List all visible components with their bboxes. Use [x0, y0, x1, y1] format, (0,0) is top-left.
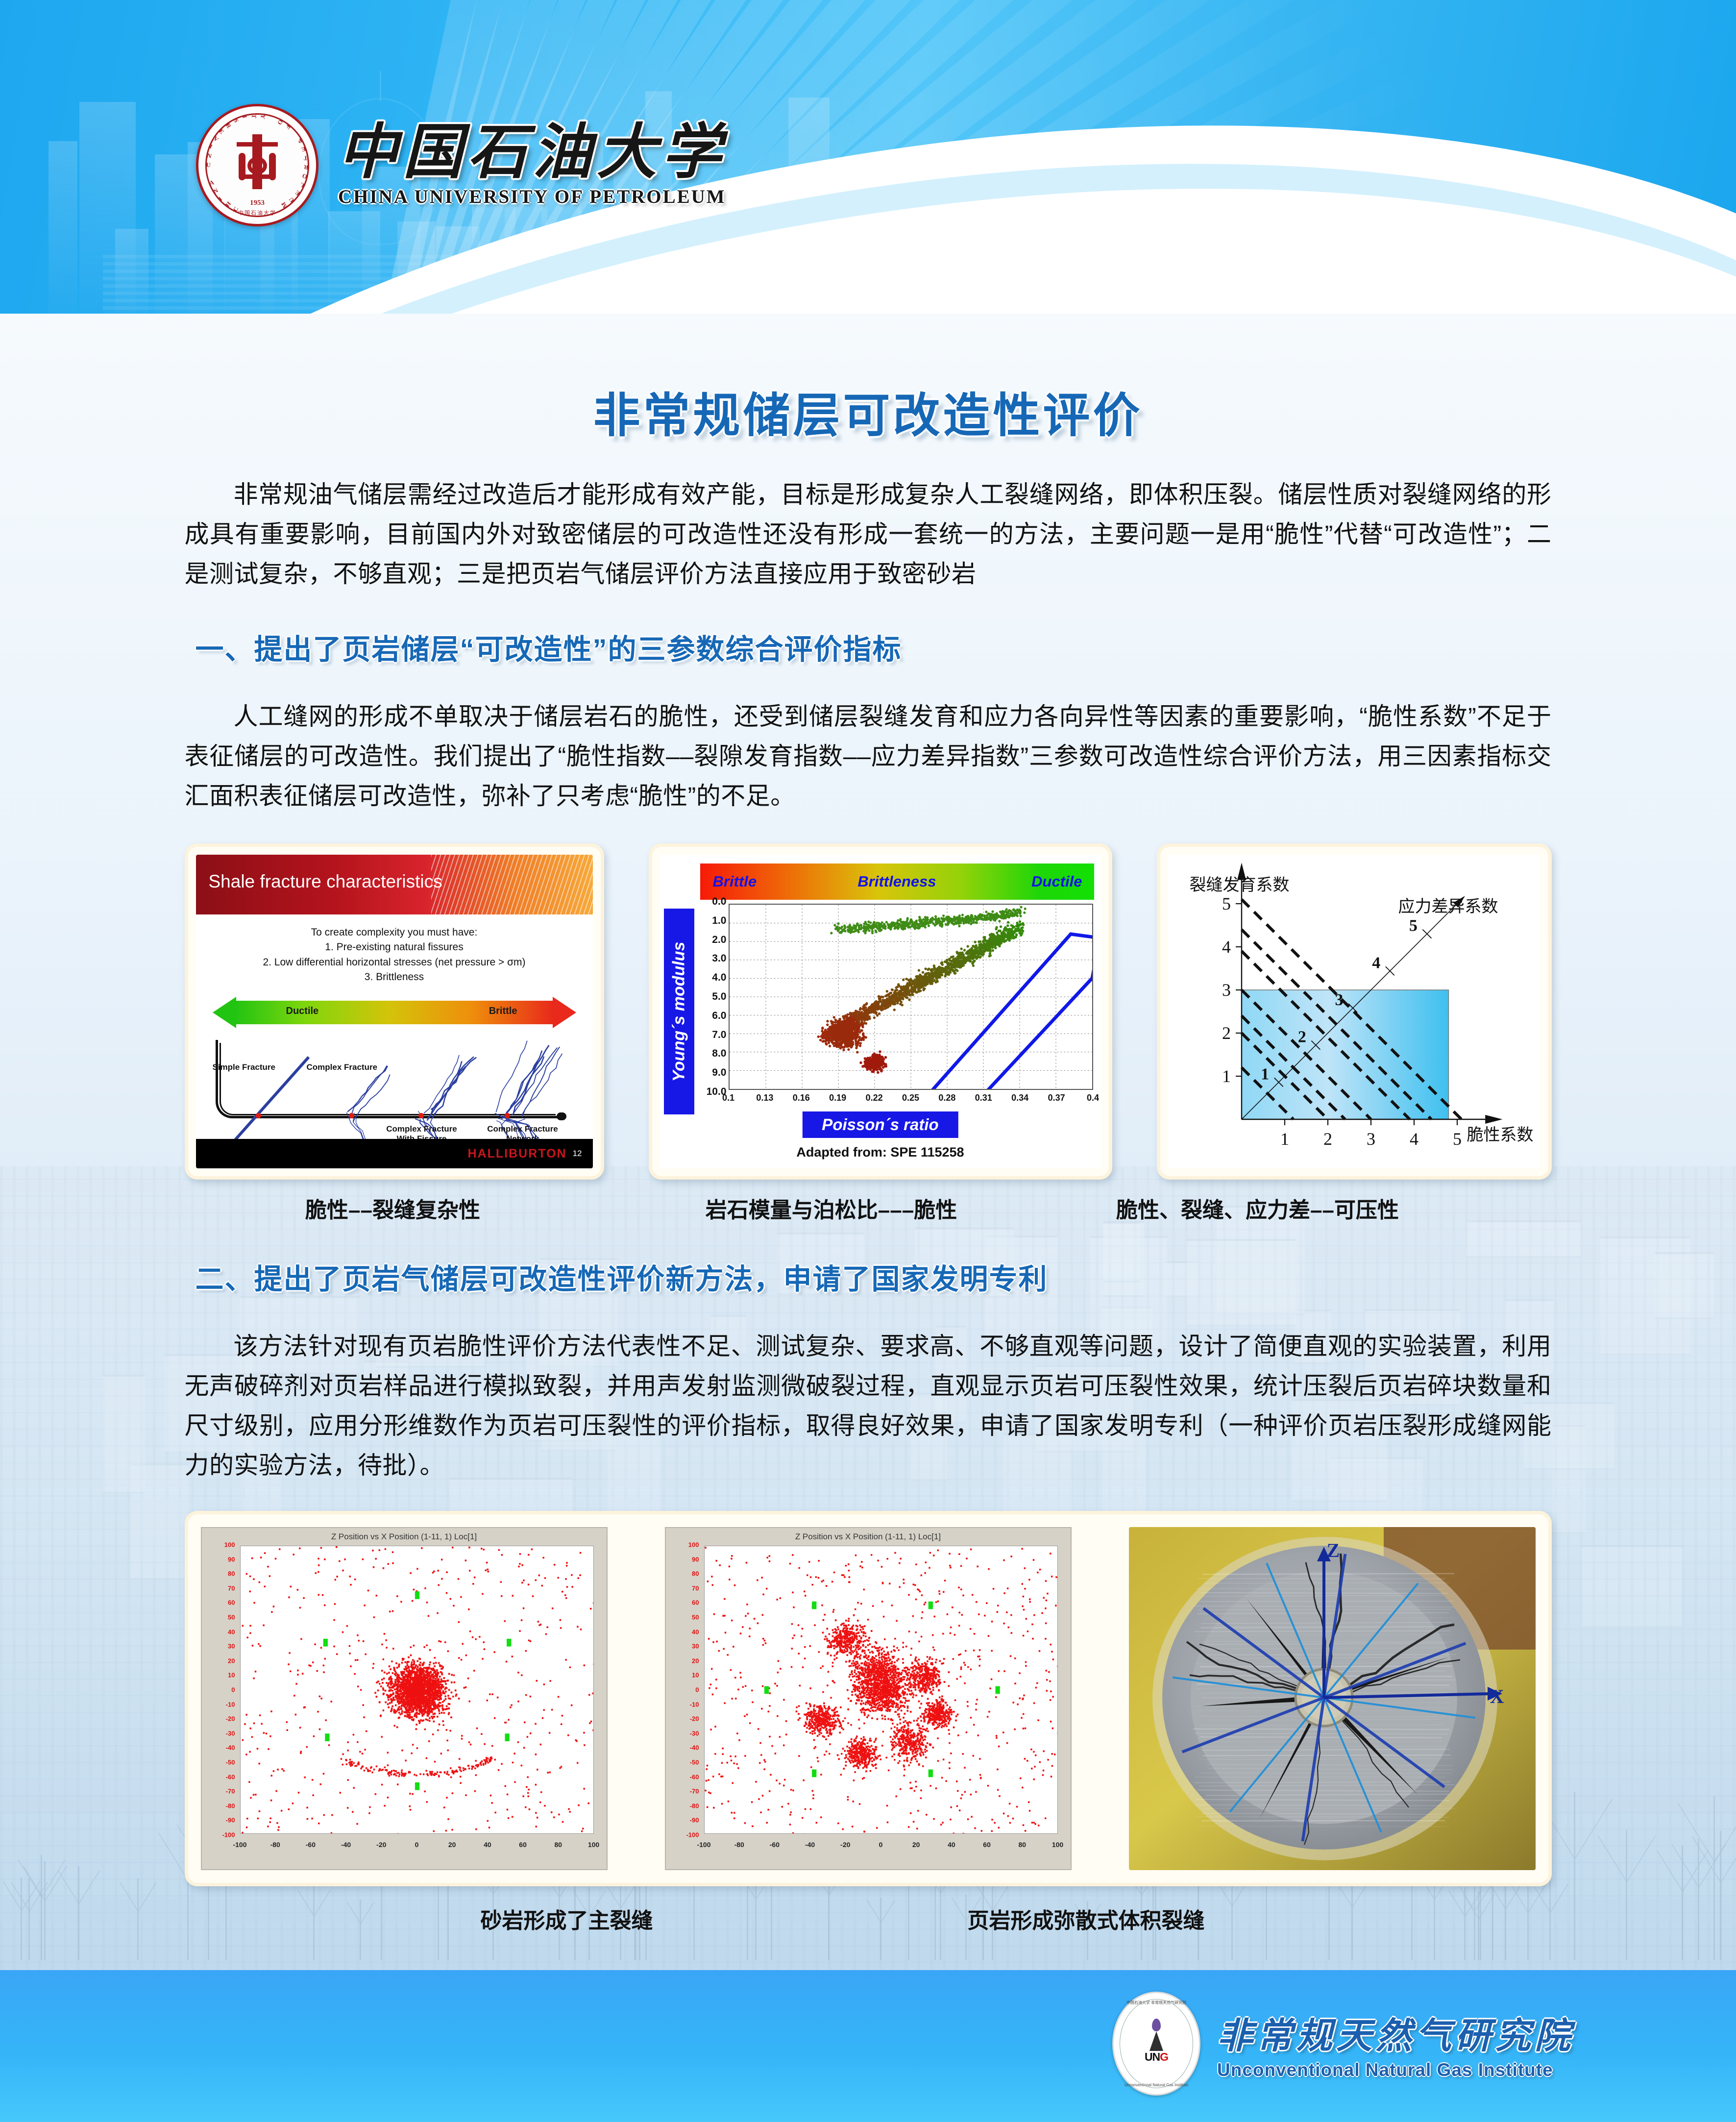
x-tick: 20 [912, 1841, 920, 1849]
halliburton-slide: Shale fracture characteristics To create… [196, 855, 593, 1168]
scatter-plot-area [729, 904, 1093, 1090]
y-tick: 8.0 [712, 1048, 726, 1060]
gradient-label-brittleness: Brittleness [857, 873, 936, 890]
svg-text:2: 2 [1323, 1129, 1332, 1149]
fracture-point [418, 1113, 424, 1118]
y-tick: -70 [690, 1788, 699, 1795]
x-tick: 0.13 [756, 1093, 773, 1103]
y-tick: 90 [228, 1555, 235, 1563]
y-tick: 50 [692, 1614, 699, 1621]
y-tick: -100 [686, 1831, 699, 1839]
brittleness-chart: Brittle Brittleness Ductile Young´s modu… [660, 855, 1101, 1168]
y-tick: 0 [231, 1686, 235, 1694]
y-tick: 9.0 [712, 1067, 726, 1079]
x-tick: -60 [306, 1841, 316, 1849]
y-tick: 1.0 [712, 915, 726, 927]
fracture-diagram: Simple Fracture Complex Fracture Complex… [211, 1035, 578, 1148]
arrow-label-brittle: Brittle [489, 1006, 517, 1017]
ae-x-ticks: -100-80-60-40-20020406080100 [240, 1841, 594, 1852]
caption-fig-1: 脆性––裂缝复杂性 [185, 1192, 601, 1224]
ae-plot-title: Z Position vs X Position (1-11, 1) Loc[1… [202, 1532, 607, 1542]
slide-fan-graphic [431, 855, 593, 914]
intro-paragraph: 非常规油气储层需经过改造后才能形成有效产能，目标是形成复杂人工裂缝网络，即体积压… [185, 475, 1552, 594]
slide-page-number: 12 [573, 1149, 582, 1159]
ung-ring-bottom: Unconventional Natural Gas Institute [1114, 2083, 1199, 2087]
y-tick: -20 [690, 1715, 699, 1723]
x-tick: 20 [448, 1841, 456, 1849]
core-axis-label-x: X [1490, 1685, 1504, 1708]
y-axis-ticks: 0.01.02.03.04.05.06.07.08.09.010.0 [698, 902, 727, 1092]
x-tick: 0.31 [975, 1093, 992, 1103]
x-tick: 0.16 [793, 1093, 810, 1103]
y-tick: -50 [690, 1759, 699, 1766]
y-tick: 0.0 [712, 896, 726, 908]
svg-text:4: 4 [1372, 954, 1380, 972]
ae-x-ticks: -100-80-60-40-20020406080100 [704, 1841, 1058, 1852]
y-tick: 80 [692, 1570, 699, 1578]
svg-text:3: 3 [1222, 980, 1231, 1000]
x-tick: 0.4 [1087, 1093, 1099, 1103]
y-axis-label: Young´s modulus [669, 941, 688, 1082]
core-axis-label-z: Z [1327, 1539, 1340, 1562]
figure-card-brittleness-scatter: Brittle Brittleness Ductile Young´s modu… [649, 843, 1112, 1180]
y-tick: 70 [692, 1584, 699, 1592]
svg-text:1: 1 [1261, 1065, 1269, 1083]
y-tick: 30 [692, 1643, 699, 1650]
y-tick: 100 [688, 1541, 699, 1549]
x-tick: 0.1 [722, 1093, 734, 1103]
scatter-points-svg [730, 905, 1092, 1089]
x-tick: 60 [983, 1841, 991, 1849]
y-tick: 70 [228, 1584, 235, 1592]
caption-fig-2: 岩石模量与泊松比–––脆性 [601, 1192, 1062, 1224]
figure-card-three-param: 裂缝发育系数 应力差异系数 脆性系数 123451234512345 [1157, 843, 1552, 1180]
ung-monogram: UNG [1145, 2050, 1168, 2064]
svg-text:5: 5 [1453, 1129, 1462, 1149]
y-tick: -50 [226, 1759, 235, 1766]
y-tick: 30 [228, 1643, 235, 1650]
y-tick: 5.0 [712, 991, 726, 1003]
x-tick: 100 [1052, 1841, 1063, 1849]
university-brand: CHINA UNIVERSITY OF PETROLEUM 1953 中国石油大… [196, 104, 726, 226]
y-tick: -70 [226, 1788, 235, 1795]
figure-card-shale-fracture: Shale fracture characteristics To create… [185, 843, 604, 1180]
x-tick: -80 [734, 1841, 744, 1849]
ung-ring-top: 中国石油大学 非常规天然气研究院 [1114, 2000, 1199, 2005]
section-2-body: 该方法针对现有页岩脆性评价方法代表性不足、测试复杂、要求高、不够直观等问题，设计… [185, 1327, 1552, 1485]
x-tick: -20 [840, 1841, 850, 1849]
diagram-label-simple: Simple Fracture [213, 1062, 276, 1072]
x-axis-label: Poisson´s ratio [802, 1111, 958, 1138]
svg-text:5: 5 [1409, 917, 1417, 935]
ae-y-ticks: 1009080706050403020100-10-20-30-40-50-60… [671, 1545, 701, 1835]
y-tick: -40 [226, 1744, 235, 1752]
svg-text:2: 2 [1222, 1023, 1231, 1043]
y-tick: -90 [690, 1817, 699, 1824]
x-tick: 0 [879, 1841, 883, 1849]
slide-bullet-2: 2. Low differential horizontal stresses … [196, 955, 593, 970]
y-tick: -10 [226, 1701, 235, 1708]
ae-plot-shale: Z Position vs X Position (1-11, 1) Loc[1… [665, 1527, 1072, 1870]
svg-text:5: 5 [1222, 894, 1231, 913]
caption-ae-sandstone: 砂岩形成了主裂缝 [346, 1903, 787, 1934]
x-axis-ticks: 0.10.130.160.190.220.250.280.310.340.370… [729, 1093, 1093, 1108]
university-name-cn: 中国石油大学 [338, 123, 726, 183]
y-tick: -40 [690, 1744, 699, 1752]
y-tick: 0 [695, 1686, 699, 1694]
slide-intro: To create complexity you must have: [196, 925, 593, 940]
seal-glyph-icon [234, 134, 281, 189]
y-tick: 4.0 [712, 972, 726, 984]
x-tick: 40 [948, 1841, 955, 1849]
y-tick: 7.0 [712, 1029, 726, 1041]
x-tick: 0.22 [866, 1093, 883, 1103]
arrow-label-ductile: Ductile [286, 1006, 319, 1017]
slide-bullets: To create complexity you must have: 1. P… [196, 925, 593, 985]
arrow-head-right-icon [553, 997, 576, 1028]
y-tick: 40 [692, 1628, 699, 1635]
halliburton-logo: HALLIBURTON [468, 1147, 567, 1161]
figure-card-ae-results: Z Position vs X Position (1-11, 1) Loc[1… [185, 1511, 1552, 1886]
y-tick: 2.0 [712, 934, 726, 946]
y-tick: 90 [692, 1555, 699, 1563]
slide-body: To create complexity you must have: 1. P… [196, 914, 593, 1139]
x-tick: -60 [770, 1841, 780, 1849]
y-tick: -60 [690, 1773, 699, 1780]
x-tick: -80 [270, 1841, 280, 1849]
ung-logo-icon: 中国石油大学 非常规天然气研究院 UNG Unconventional Natu… [1112, 1992, 1200, 2096]
caption-fig-3: 脆性、裂缝、应力差––可压性 [1062, 1192, 1454, 1224]
x-tick: 80 [1019, 1841, 1027, 1849]
x-tick: -40 [341, 1841, 351, 1849]
header-banner: CHINA UNIVERSITY OF PETROLEUM 1953 中国石油大… [0, 0, 1736, 314]
figure-row-2: Z Position vs X Position (1-11, 1) Loc[1… [201, 1527, 1536, 1870]
section-1-body: 人工缝网的形成不单取决于储层岩石的脆性，还受到储层裂缝发育和应力各向异性等因素的… [185, 697, 1552, 816]
y-tick: 60 [692, 1599, 699, 1606]
section-1-heading: 一、提出了页岩储层“可改造性”的三参数综合评价指标 [196, 626, 1552, 667]
ae-plot-area [240, 1546, 594, 1834]
x-tick: -20 [376, 1841, 386, 1849]
seal-chinese-text: 中国石油大学 [198, 209, 316, 217]
svg-text:3: 3 [1367, 1129, 1375, 1149]
x-tick: 40 [484, 1841, 491, 1849]
torch-icon [1149, 2019, 1164, 2050]
y-tick: 10 [692, 1672, 699, 1679]
ae-plot-area [704, 1546, 1058, 1834]
institute-brand: 中国石油大学 非常规天然气研究院 UNG Unconventional Natu… [1112, 1992, 1574, 2096]
y-tick: -30 [690, 1729, 699, 1737]
y-tick: 80 [228, 1570, 235, 1578]
gradient-label-brittle: Brittle [713, 873, 757, 890]
svg-text:2: 2 [1297, 1028, 1306, 1046]
gradient-label-ductile: Ductile [1031, 873, 1082, 890]
slide-footer: HALLIBURTON 12 [196, 1139, 593, 1168]
core-photo-svg [1129, 1527, 1536, 1870]
slide-bullet-1: 1. Pre-existing natural fissures [196, 940, 593, 955]
ae-plot-sandstone: Z Position vs X Position (1-11, 1) Loc[1… [201, 1527, 608, 1870]
x-tick: 0.19 [829, 1093, 846, 1103]
y-tick: 60 [228, 1599, 235, 1606]
svg-text:4: 4 [1222, 937, 1231, 957]
caption-ae-shale: 页岩形成弥散式体积裂缝 [866, 1903, 1307, 1934]
y-tick: 20 [228, 1657, 235, 1664]
university-seal-icon: CHINA UNIVERSITY OF PETROLEUM 1953 中国石油大… [196, 104, 318, 226]
x-tick: 100 [588, 1841, 599, 1849]
footer-bar: 中国石油大学 非常规天然气研究院 UNG Unconventional Natu… [0, 1970, 1736, 2122]
y-axis-label-box: Young´s modulus [664, 909, 694, 1114]
diagram-label-complex: Complex Fracture [307, 1062, 378, 1072]
x-tick: 0.25 [902, 1093, 919, 1103]
y-tick: -80 [226, 1802, 235, 1809]
x-tick: -40 [805, 1841, 815, 1849]
fracture-point [505, 1113, 510, 1118]
y-tick: -30 [226, 1729, 235, 1737]
x-tick: 0.28 [938, 1093, 955, 1103]
institute-name-cn: 非常规天然气研究院 [1217, 2007, 1574, 2059]
y-tick: -90 [226, 1817, 235, 1824]
poster-content: 非常规储层可改造性评价 非常规油气储层需经过改造后才能形成有效产能，目标是形成复… [0, 314, 1736, 1934]
ae-plot-title: Z Position vs X Position (1-11, 1) Loc[1… [666, 1532, 1071, 1542]
seal-year: 1953 [198, 199, 316, 207]
fracture-point [349, 1113, 354, 1118]
y-tick: 100 [224, 1541, 235, 1549]
section-2-heading: 二、提出了页岩气储层可改造性评价新方法，申请了国家发明专利 [196, 1256, 1552, 1297]
svg-text:1: 1 [1222, 1066, 1231, 1086]
y-tick: 6.0 [712, 1010, 726, 1022]
y-tick: -100 [222, 1831, 235, 1839]
figure-captions-row-2: 砂岩形成了主裂缝 页岩形成弥散式体积裂缝 [185, 1903, 1552, 1934]
x-tick: 80 [555, 1841, 562, 1849]
y-tick: 10 [228, 1672, 235, 1679]
y-tick: -20 [226, 1715, 235, 1723]
y-tick: 40 [228, 1628, 235, 1635]
flame-icon [1152, 2019, 1161, 2031]
x-tick: 60 [519, 1841, 527, 1849]
three-parameter-diagram: 裂缝发育系数 应力差异系数 脆性系数 123451234512345 [1168, 855, 1540, 1168]
y-tick: 50 [228, 1614, 235, 1621]
fracture-point [256, 1113, 261, 1118]
poster-root: CHINA UNIVERSITY OF PETROLEUM 1953 中国石油大… [0, 0, 1736, 2122]
institute-name-en: Unconventional Natural Gas Institute [1217, 2060, 1574, 2080]
x-tick: 0.37 [1048, 1093, 1065, 1103]
university-name-en: CHINA UNIVERSITY OF PETROLEUM [338, 186, 726, 208]
x-tick: 0.34 [1011, 1093, 1028, 1103]
ae-points-svg [241, 1546, 593, 1833]
x-tick: -100 [233, 1841, 246, 1849]
derrick-icon [1149, 2031, 1163, 2051]
svg-text:1: 1 [1280, 1129, 1289, 1149]
figure-row-1: Shale fracture characteristics To create… [185, 843, 1552, 1180]
y-tick: 20 [692, 1657, 699, 1664]
y-tick: 3.0 [712, 953, 726, 964]
ae-points-svg [705, 1546, 1057, 1833]
y-tick: -80 [690, 1802, 699, 1809]
svg-text:4: 4 [1410, 1129, 1418, 1149]
y-tick: -10 [690, 1701, 699, 1708]
ae-y-ticks: 1009080706050403020100-10-20-30-40-50-60… [207, 1545, 237, 1835]
page-title: 非常规储层可改造性评价 [185, 377, 1552, 445]
slide-bullet-3: 3. Brittleness [196, 970, 593, 985]
arrow-head-left-icon [213, 997, 236, 1028]
brittleness-gradient-bar: Brittle Brittleness Ductile [700, 864, 1094, 900]
figure-captions-row-1: 脆性––裂缝复杂性 岩石模量与泊松比–––脆性 脆性、裂缝、应力差––可压性 [185, 1192, 1552, 1224]
ductile-brittle-arrow: Ductile Brittle [213, 997, 576, 1028]
y-tick: -60 [226, 1773, 235, 1780]
slide-title-bar: Shale fracture characteristics [196, 855, 593, 914]
slide-title: Shale fracture characteristics [209, 871, 442, 892]
core-sample-photo: Z X [1129, 1527, 1536, 1870]
x-tick: 0 [415, 1841, 419, 1849]
three-param-svg: 123451234512345 [1168, 855, 1540, 1168]
chart-source: Adapted from: SPE 115258 [660, 1145, 1101, 1160]
x-tick: -100 [697, 1841, 710, 1849]
